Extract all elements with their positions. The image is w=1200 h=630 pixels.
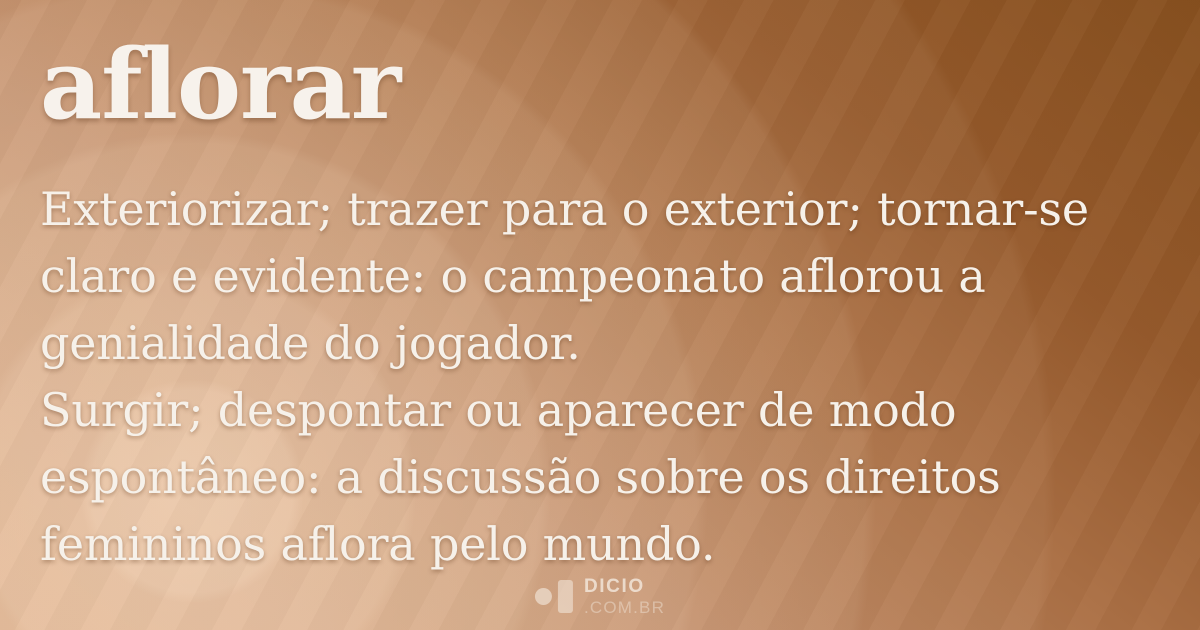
logo-wordmark: DICIO .COM.BR: [584, 577, 665, 616]
definition-list: Exteriorizar; trazer para o exterior; to…: [40, 176, 1170, 578]
card-content: aflorar Exteriorizar; trazer para o exte…: [40, 0, 1170, 630]
headword: aflorar: [40, 36, 400, 134]
logo-bar-icon: [558, 580, 573, 613]
definition-sense-2: Surgir; despontar ou aparecer de modo es…: [40, 377, 1170, 578]
definition-line: Surgir; despontar ou aparecer de modo: [40, 377, 1170, 444]
definition-sense-1: Exteriorizar; trazer para o exterior; to…: [40, 176, 1170, 377]
definition-line: espontâneo: a discussão sobre os direito…: [40, 444, 1170, 511]
definition-line: claro e evidente: o campeonato aflorou a: [40, 243, 1170, 310]
circle-and-bar-icon: [535, 580, 573, 614]
logo-circle-icon: [535, 588, 552, 605]
site-logo: DICIO .COM.BR: [535, 577, 665, 616]
definition-line: femininos aflora pelo mundo.: [40, 511, 1170, 578]
logo-tld: .COM.BR: [584, 599, 665, 616]
definition-line: Exteriorizar; trazer para o exterior; to…: [40, 176, 1170, 243]
definition-card: aflorar Exteriorizar; trazer para o exte…: [0, 0, 1200, 630]
logo-name: DICIO: [584, 577, 665, 596]
definition-line: genialidade do jogador.: [40, 310, 1170, 377]
